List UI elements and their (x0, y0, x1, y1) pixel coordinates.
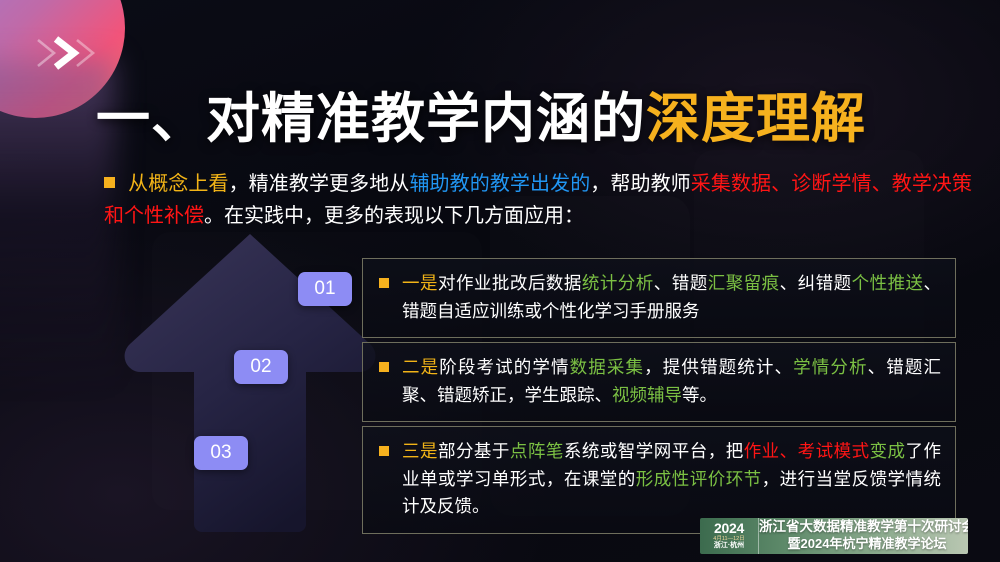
text-run: 从概念上看 (128, 173, 229, 195)
step-badge-03[interactable]: 03 (194, 436, 248, 470)
page-title: 一、对精准教学内涵的深度理解 (96, 92, 866, 146)
content-box-2: 二是阶段考试的学情数据采集，提供错题统计、学情分析、错题汇聚、错题矫正，学生跟踪… (362, 342, 956, 422)
text-run: 变成 (870, 441, 906, 461)
text-run: 三是 (402, 441, 438, 461)
text-run: 部分基于 (438, 441, 510, 461)
step-badge-02-label: 02 (250, 356, 271, 378)
text-run: 数据采集 (570, 357, 645, 377)
text-run: 视频辅导 (612, 385, 682, 405)
text-run: 、纠错题 (780, 273, 852, 293)
slide-canvas: 一、对精准教学内涵的深度理解 从概念上看，精准教学更多地从辅助教的教学出发的，帮… (0, 0, 1000, 562)
text-run: 等。 (682, 385, 717, 405)
step-badge-02[interactable]: 02 (234, 350, 288, 384)
text-run: 作业、考试模式 (744, 441, 870, 461)
title-white-part: 一、对精准教学内涵的 (96, 89, 646, 149)
step-badge-01-label: 01 (314, 278, 335, 300)
text-run: 辅助教的教学出发的 (409, 173, 590, 195)
text-run: 二是 (402, 357, 439, 377)
step-badge-01[interactable]: 01 (298, 272, 352, 306)
text-run: 个性推送 (852, 273, 924, 293)
text-run: ，帮助教师 (590, 173, 690, 195)
square-bullet-icon (379, 278, 389, 288)
text-run: 。在实践中，更多的表现以下几方面应用： (204, 205, 584, 227)
text-run: 汇聚留痕 (708, 273, 780, 293)
step-badge-03-label: 03 (210, 442, 231, 464)
text-run: 系统或智学网平台，把 (564, 441, 744, 461)
content-box-1: 一是对作业批改后数据统计分析、错题汇聚留痕、纠错题个性推送、错题自适应训练或个性… (362, 258, 956, 338)
text-run: ，提供错题统计、 (644, 357, 793, 377)
text-run: 一是 (402, 273, 438, 293)
conference-logo-right: 浙江省大数据精准教学第十次研讨会 暨2024年杭宁精准教学论坛 (759, 518, 968, 554)
square-bullet-icon (379, 446, 389, 456)
conference-logo-line1: 浙江省大数据精准教学第十次研讨会 (759, 519, 968, 536)
text-run: 统计分析 (582, 273, 654, 293)
conference-logo-place: 浙江·杭州 (714, 542, 744, 550)
content-box-2-text: 二是阶段考试的学情数据采集，提供错题统计、学情分析、错题汇聚、错题矫正，学生跟踪… (402, 354, 941, 409)
text-run: 对作业批改后数据 (438, 273, 582, 293)
content-box-3-text: 三是部分基于点阵笔系统或智学网平台，把作业、考试模式变成了作业单或学习单形式，在… (402, 438, 941, 521)
square-bullet-icon (379, 362, 389, 372)
text-run: 、错题 (654, 273, 708, 293)
conference-logo-year: 2024 (714, 521, 744, 535)
title-gold-part: 深度理解 (646, 89, 866, 149)
lead-paragraph: 从概念上看，精准教学更多地从辅助教的教学出发的，帮助教师采集数据、诊断学情、教学… (104, 168, 972, 233)
conference-logo-left: 2024 4月11—12日 浙江·杭州 (700, 518, 759, 554)
lead-paragraph-text: 从概念上看，精准教学更多地从辅助教的教学出发的，帮助教师采集数据、诊断学情、教学… (104, 173, 972, 227)
conference-logo-line2: 暨2024年杭宁精准教学论坛 (788, 536, 947, 552)
text-run: 学情分析 (793, 357, 868, 377)
conference-logo: 2024 4月11—12日 浙江·杭州 浙江省大数据精准教学第十次研讨会 暨20… (700, 518, 968, 554)
text-run: ，精准教学更多地从 (229, 173, 410, 195)
content-box-1-text: 一是对作业批改后数据统计分析、错题汇聚留痕、纠错题个性推送、错题自适应训练或个性… (402, 270, 941, 325)
text-run: 点阵笔 (510, 441, 564, 461)
text-run: 形成性评价环节 (636, 469, 762, 489)
square-bullet-icon (104, 177, 115, 188)
text-run: 阶段考试的学情 (439, 357, 569, 377)
chevron-arrows-decoration (34, 32, 102, 76)
